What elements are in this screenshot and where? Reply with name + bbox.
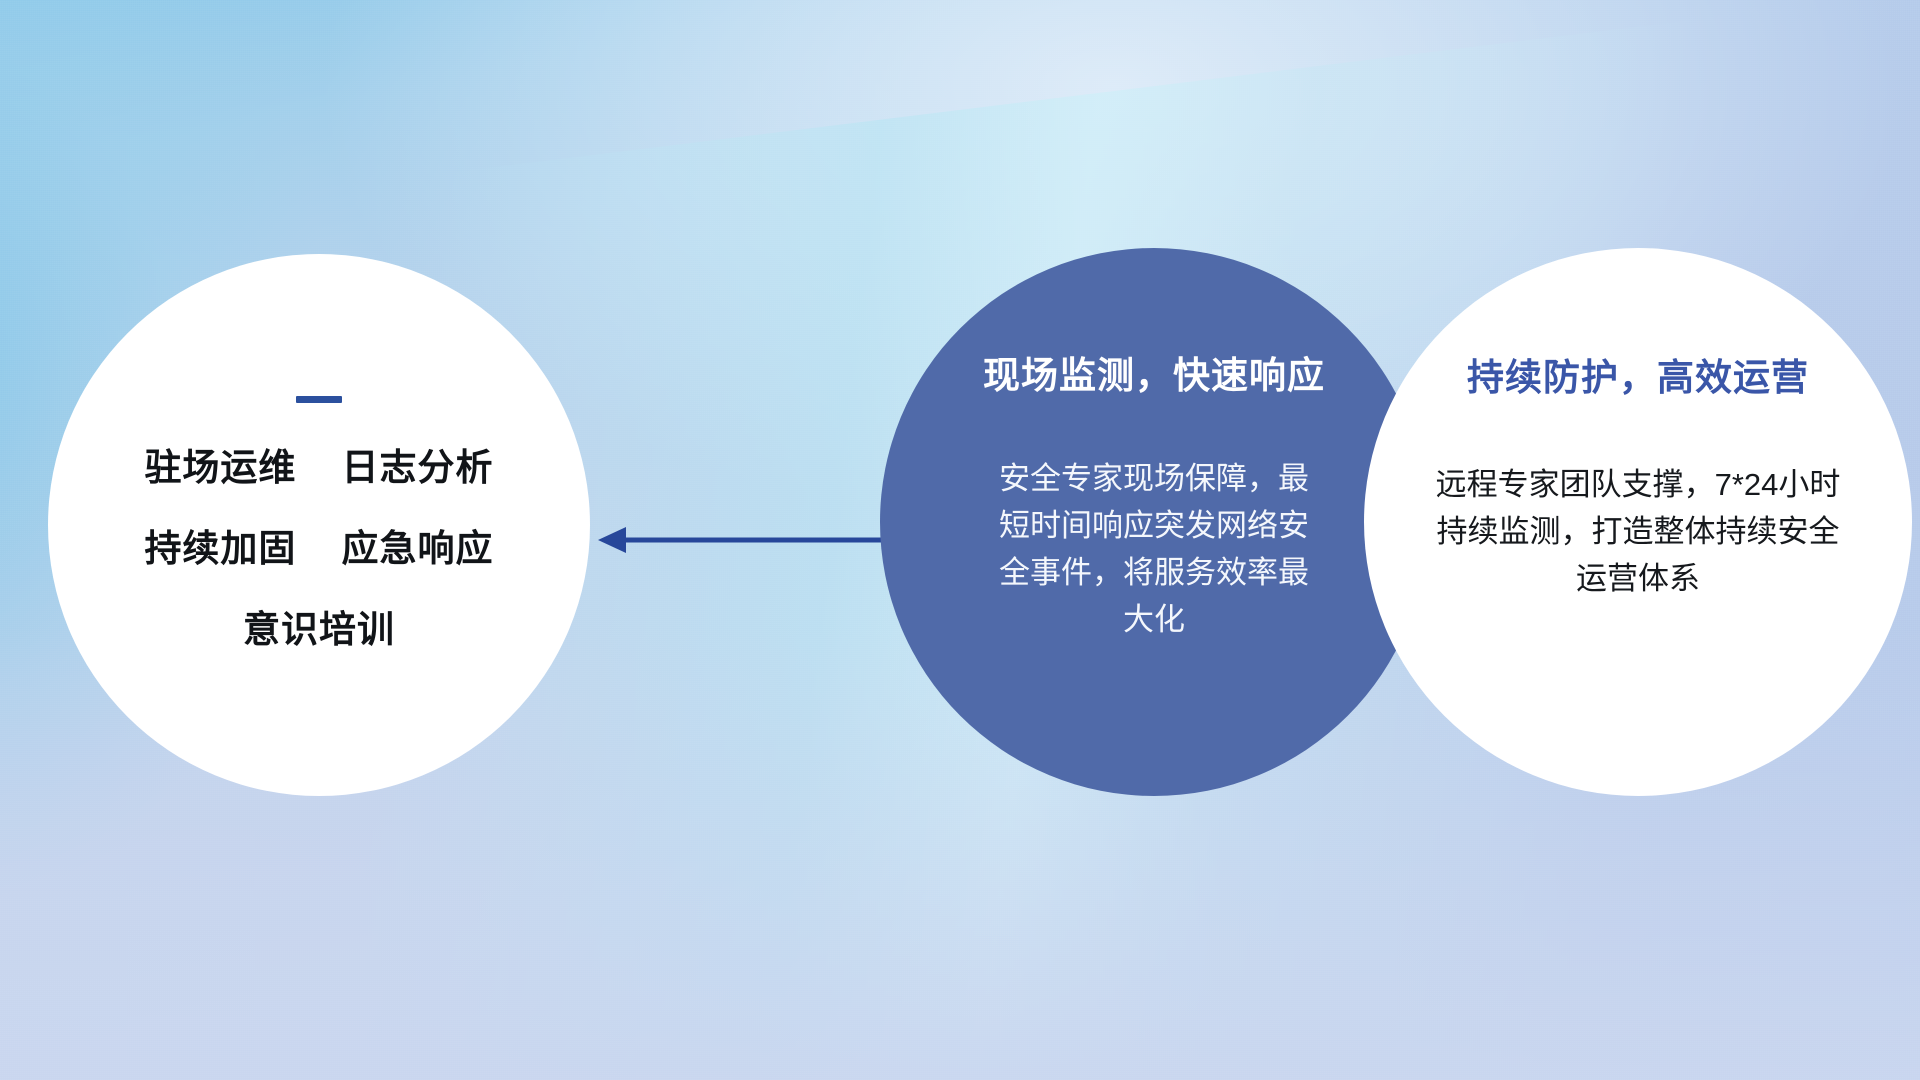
horizontal-dash-icon [296,396,342,403]
left-capability-line-3: 意识培训 [243,611,395,648]
arrow-left-icon [596,516,896,564]
left-capability-circle[interactable]: 驻场运维 日志分析 持续加固 应急响应 意识培训 [48,254,590,796]
continuous-protection-body: 远程专家团队支撑，7*24小时持续监测，打造整体持续安全运营体系 [1429,461,1847,602]
continuous-protection-circle[interactable]: 持续防护，高效运营 远程专家团队支撑，7*24小时持续监测，打造整体持续安全运营… [1364,248,1912,796]
left-capability-line-2: 持续加固 应急响应 [144,530,493,567]
onsite-monitoring-title: 现场监测，快速响应 [983,356,1325,397]
left-capability-line-1: 驻场运维 日志分析 [144,449,493,486]
onsite-monitoring-circle[interactable]: 现场监测，快速响应 安全专家现场保障，最短时间响应突发网络安全事件，将服务效率最… [880,248,1428,796]
onsite-monitoring-body: 安全专家现场保障，最短时间响应突发网络安全事件，将服务效率最大化 [989,455,1319,643]
diagram-canvas: 驻场运维 日志分析 持续加固 应急响应 意识培训 现场监测，快速响应 安全专家现… [0,0,1920,1080]
continuous-protection-title: 持续防护，高效运营 [1467,358,1809,399]
